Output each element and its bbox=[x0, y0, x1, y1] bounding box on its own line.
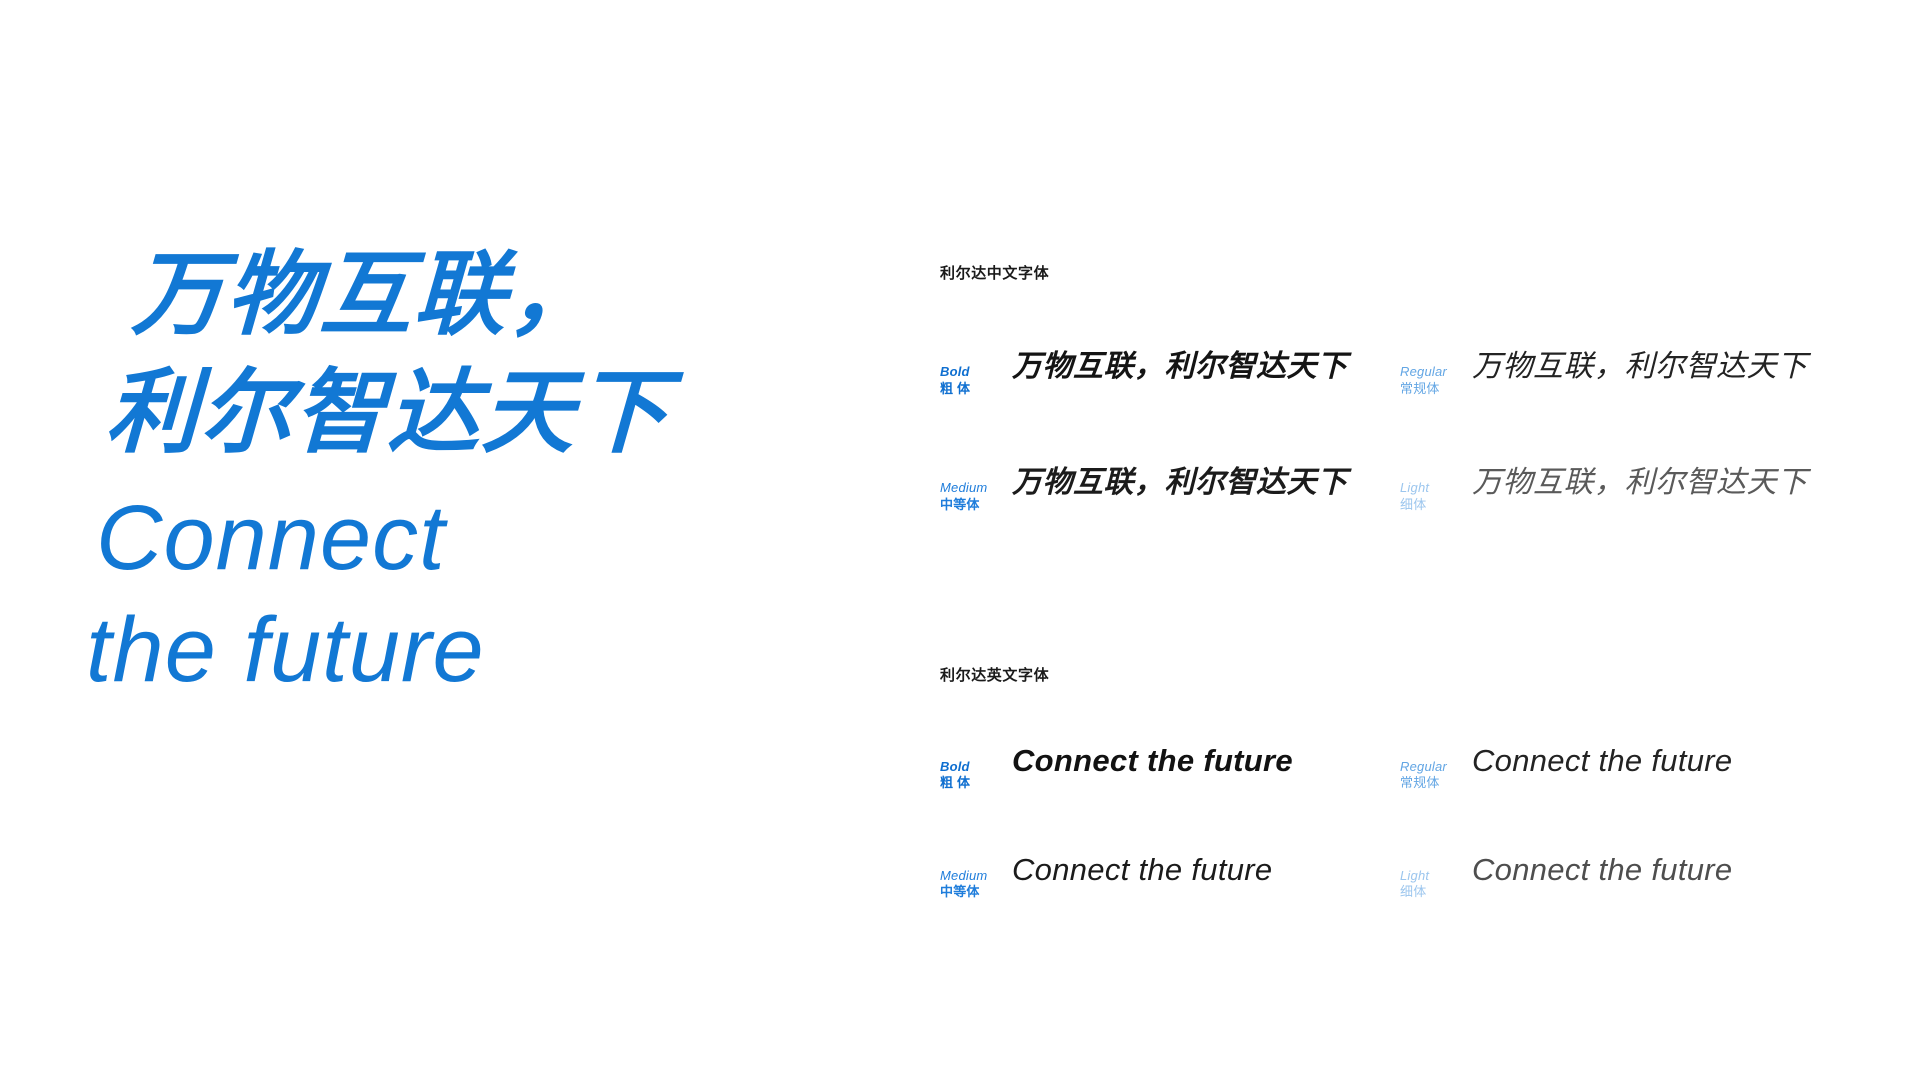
weight-label-latin: Light bbox=[1400, 868, 1472, 885]
weight-label-cjk: 粗 体 bbox=[940, 775, 1012, 792]
weight-label-cjk: 常规体 bbox=[1400, 381, 1472, 398]
specimen-chinese-bold: Bold 粗 体 万物互联，利尔智达天下 bbox=[940, 341, 1400, 397]
weight-label-latin: Medium bbox=[940, 480, 1012, 497]
weight-label-medium: Medium 中等体 bbox=[940, 478, 1012, 513]
specimen-english-bold: Bold 粗 体 Connect the future bbox=[940, 743, 1400, 792]
weight-label-regular: Regular 常规体 bbox=[1400, 362, 1472, 397]
specimen-english-light: Light 细体 Connect the future bbox=[1400, 852, 1860, 901]
weight-label-bold: Bold 粗 体 bbox=[940, 362, 1012, 397]
weight-label-cjk: 粗 体 bbox=[940, 381, 1012, 398]
section-english-typeface: 利尔达英文字体 Bold 粗 体 Connect the future Regu… bbox=[940, 664, 1860, 902]
specimen-sample-text: 万物互联，利尔智达天下 bbox=[1472, 457, 1808, 501]
specimen-sample-text: Connect the future bbox=[1012, 743, 1293, 779]
specimen-sample-text: Connect the future bbox=[1472, 852, 1732, 888]
weight-label-latin: Bold bbox=[940, 759, 1012, 776]
specimen-sample-text: Connect the future bbox=[1472, 743, 1732, 779]
specimen-english-medium: Medium 中等体 Connect the future bbox=[940, 852, 1400, 901]
specimen-panel: 利尔达中文字体 Bold 粗 体 万物互联，利尔智达天下 Regular 常规体… bbox=[940, 262, 1860, 901]
weight-label-light: Light 细体 bbox=[1400, 478, 1472, 513]
weight-grid-chinese: Bold 粗 体 万物互联，利尔智达天下 Regular 常规体 万物互联，利尔… bbox=[940, 341, 1860, 514]
weight-label-light: Light 细体 bbox=[1400, 866, 1472, 901]
hero-lockup: 万物互联， 利尔智达天下 Connect the future bbox=[86, 236, 846, 706]
hero-english-line-1: Connect bbox=[96, 482, 846, 594]
specimen-english-regular: Regular 常规体 Connect the future bbox=[1400, 743, 1860, 792]
weight-grid-english: Bold 粗 体 Connect the future Regular 常规体 … bbox=[940, 743, 1860, 902]
hero-chinese-line-1: 万物互联， bbox=[130, 236, 848, 354]
specimen-chinese-medium: Medium 中等体 万物互联，利尔智达天下 bbox=[940, 457, 1400, 513]
specimen-sample-text: 万物互联，利尔智达天下 bbox=[1472, 341, 1808, 385]
weight-label-regular: Regular 常规体 bbox=[1400, 757, 1472, 792]
weight-label-bold: Bold 粗 体 bbox=[940, 757, 1012, 792]
weight-label-latin: Bold bbox=[940, 364, 1012, 381]
section-chinese-typeface: 利尔达中文字体 Bold 粗 体 万物互联，利尔智达天下 Regular 常规体… bbox=[940, 262, 1860, 514]
section-title-chinese: 利尔达中文字体 bbox=[940, 262, 1860, 283]
weight-label-cjk: 细体 bbox=[1400, 497, 1472, 514]
specimen-chinese-regular: Regular 常规体 万物互联，利尔智达天下 bbox=[1400, 341, 1860, 397]
weight-label-cjk: 细体 bbox=[1400, 884, 1472, 901]
specimen-sample-text: 万物互联，利尔智达天下 bbox=[1012, 341, 1348, 385]
weight-label-latin: Regular bbox=[1400, 364, 1472, 381]
weight-label-medium: Medium 中等体 bbox=[940, 866, 1012, 901]
weight-label-cjk: 中等体 bbox=[940, 884, 1012, 901]
weight-label-cjk: 常规体 bbox=[1400, 775, 1472, 792]
typography-specimen-page: 万物互联， 利尔智达天下 Connect the future 利尔达中文字体 … bbox=[0, 0, 1920, 1080]
weight-label-latin: Medium bbox=[940, 868, 1012, 885]
specimen-chinese-light: Light 细体 万物互联，利尔智达天下 bbox=[1400, 457, 1860, 513]
hero-english-line-2: the future bbox=[86, 594, 846, 706]
specimen-sample-text: 万物互联，利尔智达天下 bbox=[1012, 457, 1348, 501]
specimen-sample-text: Connect the future bbox=[1012, 852, 1272, 888]
weight-label-latin: Light bbox=[1400, 480, 1472, 497]
hero-chinese-line-2: 利尔智达天下 bbox=[104, 354, 848, 472]
section-title-english: 利尔达英文字体 bbox=[940, 664, 1860, 685]
weight-label-cjk: 中等体 bbox=[940, 497, 1012, 514]
weight-label-latin: Regular bbox=[1400, 759, 1472, 776]
